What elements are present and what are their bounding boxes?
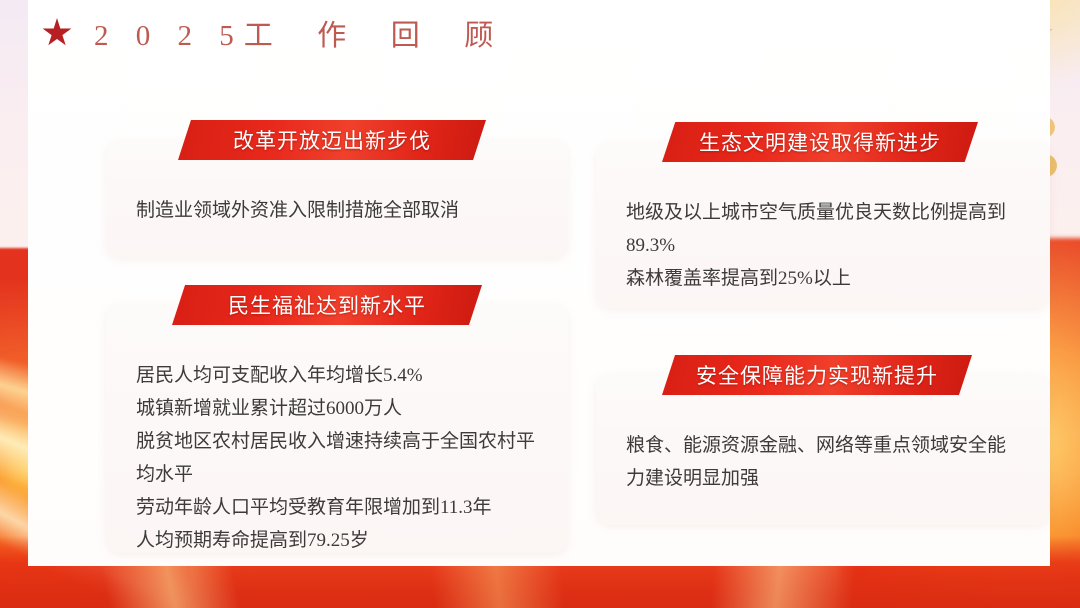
page-title: 2 0 2 5工 作 回 顾 bbox=[94, 12, 503, 54]
content-panel: 2 0 2 5工 作 回 顾 改革开放迈出新步伐 制造业领域外资准入限制措施全部… bbox=[28, 0, 1050, 566]
card-peoples-wellbeing[interactable]: 民生福祉达到新水平 居民人均可支配收入年均增长5.4% 城镇新增就业累计超过60… bbox=[106, 305, 568, 553]
card-security-capability[interactable]: 安全保障能力实现新提升 粮食、能源资源金融、网络等重点领域安全能力建设明显加强 bbox=[596, 375, 1050, 525]
card-body: 居民人均可支配收入年均增长5.4% 城镇新增就业累计超过6000万人 脱贫地区农… bbox=[136, 359, 542, 557]
star-icon bbox=[42, 18, 72, 48]
card-banner-label: 改革开放迈出新步伐 bbox=[233, 125, 431, 155]
card-banner-label: 生态文明建设取得新进步 bbox=[699, 127, 941, 157]
card-line: 城镇新增就业累计超过6000万人 bbox=[136, 392, 542, 425]
card-body: 地级及以上城市空气质量优良天数比例提高到89.3% 森林覆盖率提高到25%以上 bbox=[626, 196, 1024, 295]
card-body: 制造业领域外资准入限制措施全部取消 bbox=[136, 194, 542, 227]
card-line: 居民人均可支配收入年均增长5.4% bbox=[136, 359, 542, 392]
slide-canvas: 2 0 2 5工 作 回 顾 改革开放迈出新步伐 制造业领域外资准入限制措施全部… bbox=[0, 0, 1080, 608]
card-line: 森林覆盖率提高到25%以上 bbox=[626, 262, 1024, 295]
card-reform-opening[interactable]: 改革开放迈出新步伐 制造业领域外资准入限制措施全部取消 bbox=[106, 140, 568, 258]
card-banner: 生态文明建设取得新进步 bbox=[662, 122, 978, 162]
card-banner-label: 民生福祉达到新水平 bbox=[228, 290, 426, 320]
card-line: 地级及以上城市空气质量优良天数比例提高到89.3% bbox=[626, 196, 1024, 262]
card-line: 人均预期寿命提高到79.25岁 bbox=[136, 524, 542, 557]
card-banner: 安全保障能力实现新提升 bbox=[662, 355, 972, 395]
card-body: 粮食、能源资源金融、网络等重点领域安全能力建设明显加强 bbox=[626, 429, 1024, 495]
card-line: 脱贫地区农村居民收入增速持续高于全国农村平均水平 bbox=[136, 425, 542, 491]
card-line: 制造业领域外资准入限制措施全部取消 bbox=[136, 194, 542, 227]
card-banner-label: 安全保障能力实现新提升 bbox=[696, 360, 938, 390]
card-banner: 民生福祉达到新水平 bbox=[172, 285, 482, 325]
card-ecological-civilization[interactable]: 生态文明建设取得新进步 地级及以上城市空气质量优良天数比例提高到89.3% 森林… bbox=[596, 142, 1050, 308]
card-line: 劳动年龄人口平均受教育年限增加到11.3年 bbox=[136, 491, 542, 524]
slide-header: 2 0 2 5工 作 回 顾 bbox=[42, 12, 503, 54]
card-banner: 改革开放迈出新步伐 bbox=[178, 120, 486, 160]
card-line: 粮食、能源资源金融、网络等重点领域安全能力建设明显加强 bbox=[626, 429, 1024, 495]
